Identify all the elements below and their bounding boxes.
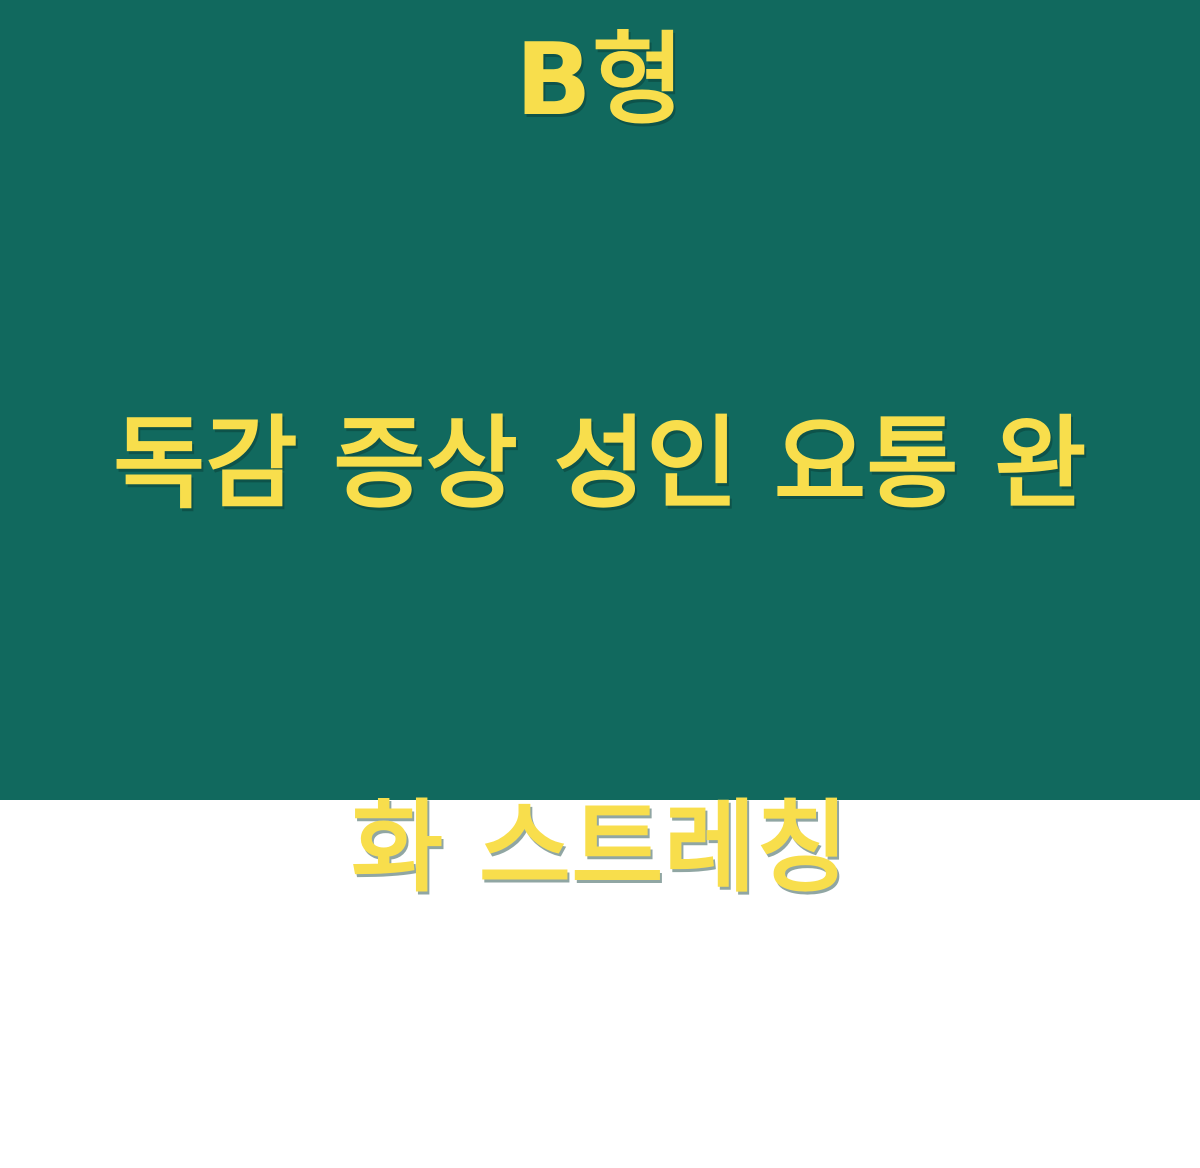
title-card: 허리 끊어질 듯 아픈 B형 독감 증상 성인 요통 완 화 스트레칭 (0, 0, 1200, 800)
page-title: 허리 끊어질 듯 아픈 B형 독감 증상 성인 요통 완 화 스트레칭 (80, 0, 1120, 1168)
headline-line-1: 허리 끊어질 듯 아픈 B형 (80, 0, 1120, 144)
headline-line-3: 화 스트레칭 (80, 784, 1120, 912)
headline-line-2: 독감 증상 성인 요통 완 (80, 400, 1120, 528)
